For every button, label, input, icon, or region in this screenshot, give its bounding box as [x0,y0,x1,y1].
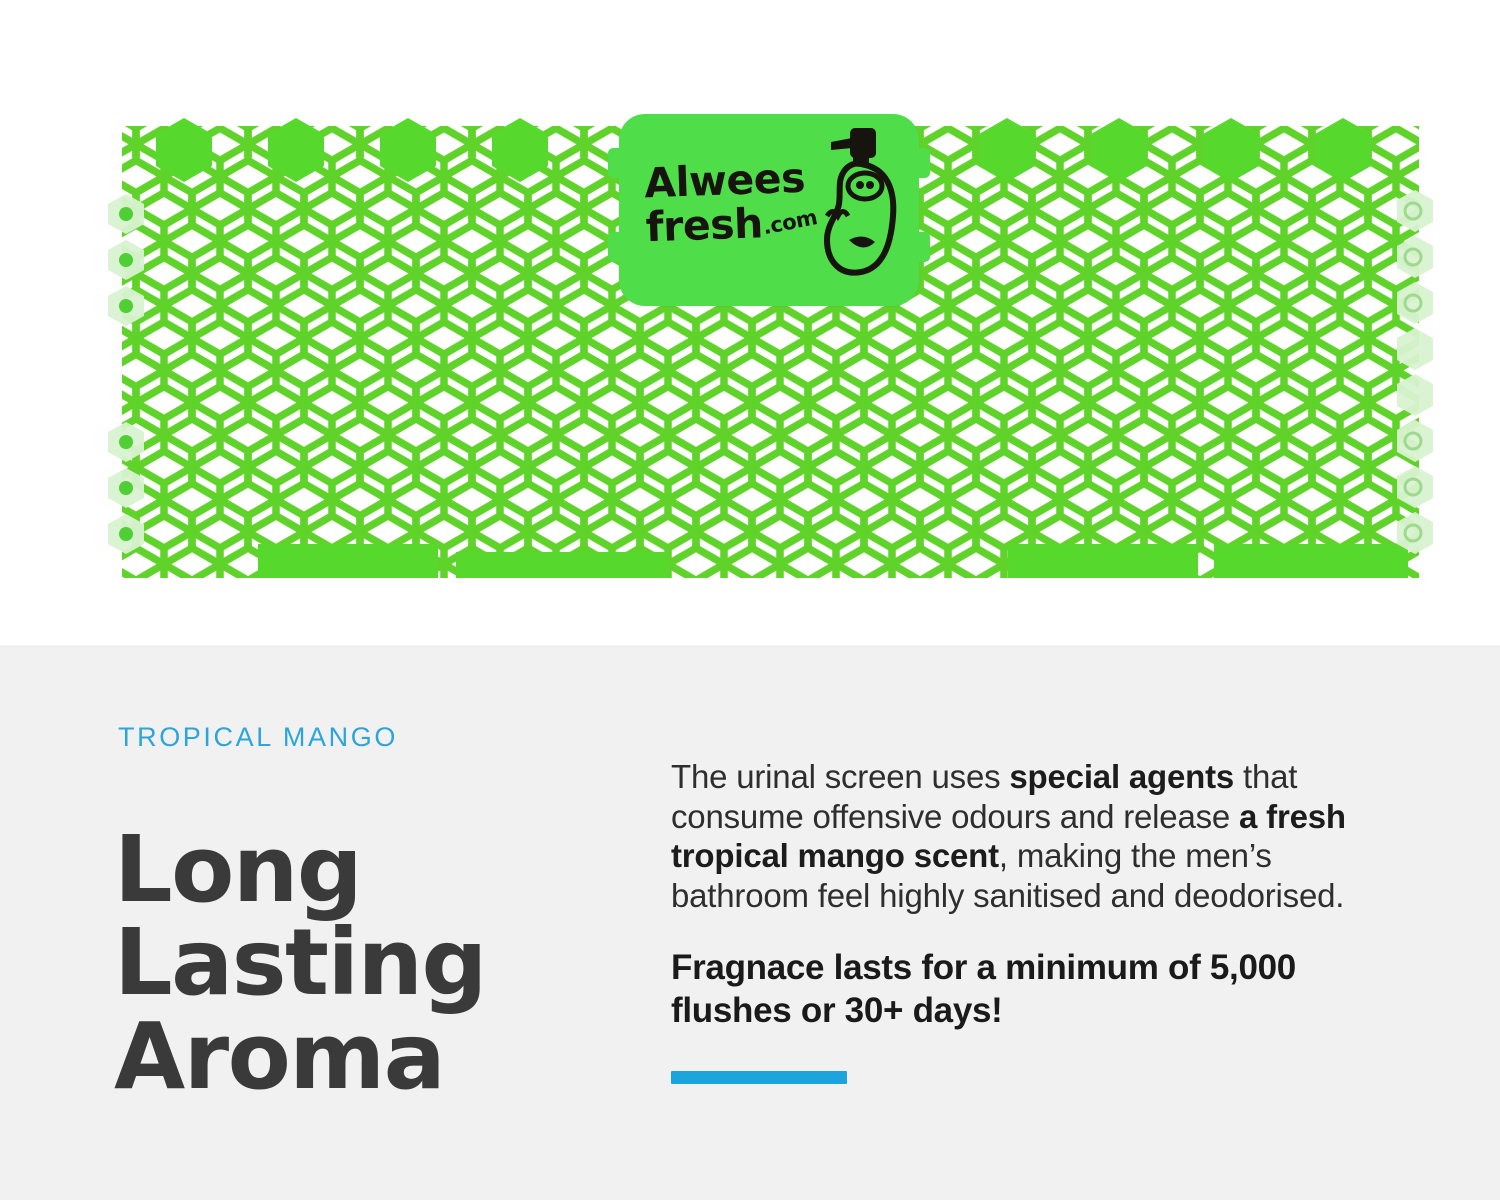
tag-notch-left-1 [608,148,630,178]
info-content: TROPICAL MANGO Long Lasting Aroma The ur… [118,645,1418,1200]
desc-part-1: The urinal screen uses [671,758,1009,795]
logo-line-1: Alwees [643,154,805,208]
urinal-screen-product: Alwees fresh.com [108,112,1433,592]
longevity-claim: Fragnace lasts for a minimum of 5,000 fl… [671,947,1411,1032]
logo-line-2-word: fresh [645,199,764,251]
logo-line-2: fresh.com [645,201,836,248]
product-marketing-image: Alwees fresh.com [0,0,1500,1200]
desc-bold-1: special agents [1009,758,1234,795]
info-panel: TROPICAL MANGO Long Lasting Aroma The ur… [0,645,1500,1200]
brand-logo-text: Alwees fresh.com [644,157,837,248]
description-paragraph: The urinal screen uses special agents th… [671,757,1411,915]
description-column: The urinal screen uses special agents th… [671,757,1411,1084]
spray-bottle-mascot-icon [815,124,901,284]
logo-dotcom: .com [761,207,819,238]
headline-line-1: Long [114,823,674,917]
brand-logo-tag: Alwees fresh.com [619,114,919,306]
product-photo-panel: Alwees fresh.com [0,0,1500,645]
headline-line-2: Lasting [114,916,674,1010]
tag-notch-left-2 [608,232,630,262]
accent-underline-bar [671,1071,847,1084]
headline-line-3: Aroma [114,1010,674,1104]
scent-eyebrow-label: TROPICAL MANGO [118,722,398,753]
page-title: Long Lasting Aroma [114,823,674,1104]
